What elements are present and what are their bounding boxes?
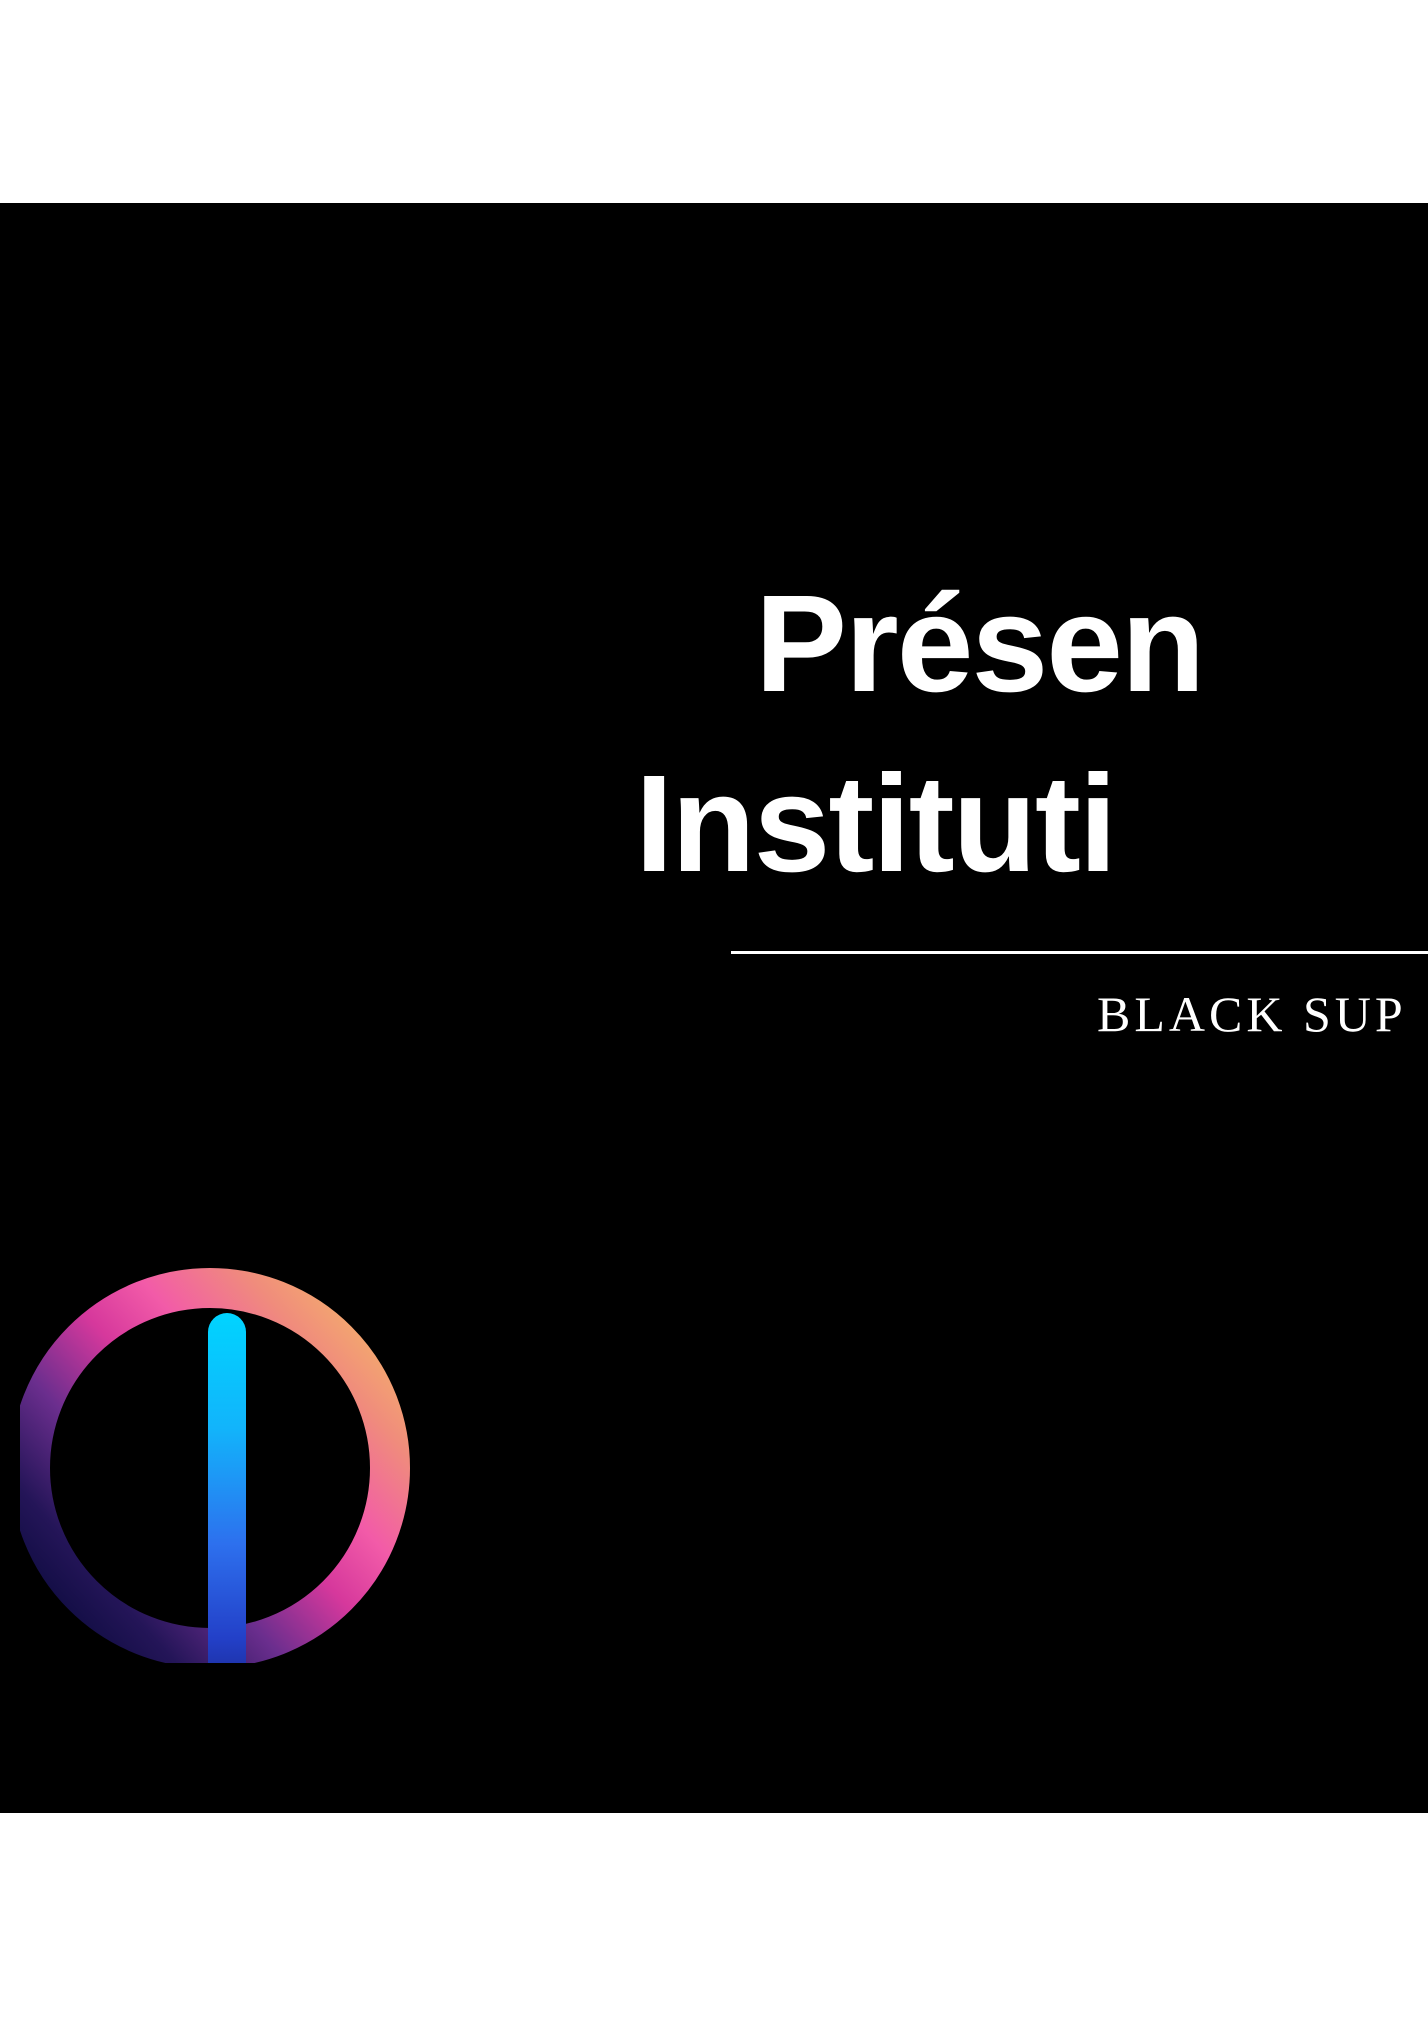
slide-page: Présen Instituti BLACK SUP [0,0,1428,2018]
slide-canvas: Présen Instituti BLACK SUP [0,203,1428,1813]
title-line-1: Présen [755,575,1203,713]
title-line-2: Instituti [635,755,1115,893]
title-block: Présen Instituti BLACK SUP [0,203,1428,1813]
subtitle: BLACK SUP [1097,985,1407,1043]
title-divider-rule [731,951,1428,954]
